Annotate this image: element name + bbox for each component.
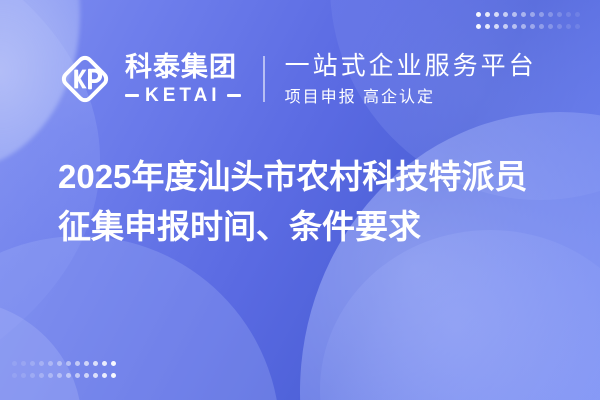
dot: [84, 373, 89, 378]
dot: [48, 361, 53, 366]
dot: [75, 361, 80, 366]
tagline-sub: 项目申报 高企认定: [285, 88, 537, 107]
dot: [30, 361, 35, 366]
dot: [57, 361, 62, 366]
dot: [530, 24, 535, 29]
dot: [503, 24, 508, 29]
dot: [548, 12, 553, 17]
dot-column: [512, 12, 517, 29]
dot: [566, 24, 571, 29]
rule-right-icon: [227, 94, 241, 97]
dot-column: [548, 12, 553, 29]
dot: [48, 373, 53, 378]
dot: [530, 12, 535, 17]
dot-column: [494, 12, 499, 29]
tagline-group: 一站式企业服务平台 项目申报 高企认定: [285, 51, 537, 107]
dot-column: [12, 361, 17, 378]
dot: [30, 373, 35, 378]
dot: [39, 361, 44, 366]
dot: [512, 12, 517, 17]
dot-column: [66, 361, 71, 378]
dot-column: [84, 361, 89, 378]
dot: [66, 373, 71, 378]
dot: [539, 12, 544, 17]
dot: [102, 361, 107, 366]
dot-grid-top-right: [476, 12, 584, 29]
tagline-main: 一站式企业服务平台: [285, 51, 537, 81]
brand-name-cn: 科泰集团: [125, 53, 241, 82]
dot: [557, 24, 562, 29]
kp-diamond-logo-icon: [55, 49, 115, 109]
promo-banner: 科泰集团 KETAI 一站式企业服务平台 项目申报 高企认定 2025年度汕头市…: [0, 0, 600, 400]
dot: [566, 12, 571, 17]
dot-column: [530, 12, 535, 29]
dot: [575, 24, 580, 29]
dot: [521, 24, 526, 29]
dot-column: [30, 361, 35, 378]
dot: [21, 361, 26, 366]
dot: [111, 361, 116, 366]
dot-column: [539, 12, 544, 29]
brand-wordmark: 科泰集团 KETAI: [125, 53, 241, 104]
dot-column: [48, 361, 53, 378]
header-divider: [263, 56, 265, 102]
dot: [21, 373, 26, 378]
dot: [521, 12, 526, 17]
dot: [57, 373, 62, 378]
dot-column: [476, 12, 481, 29]
dot-column: [75, 361, 80, 378]
dot: [485, 24, 490, 29]
curve-bottom-right-shape: [320, 230, 600, 400]
dot: [102, 373, 107, 378]
dot: [575, 12, 580, 17]
dot: [12, 373, 17, 378]
dot-column: [39, 361, 44, 378]
dot-column: [557, 12, 562, 29]
dot-column: [111, 361, 116, 378]
rule-left-icon: [125, 94, 139, 97]
dot: [66, 361, 71, 366]
brand-name-en: KETAI: [145, 86, 221, 105]
dot: [494, 24, 499, 29]
dot: [75, 373, 80, 378]
dot-column: [102, 361, 107, 378]
dot-grid-bottom-left: [12, 361, 120, 378]
dot: [548, 24, 553, 29]
dot: [93, 373, 98, 378]
dot: [512, 24, 517, 29]
dot-column: [575, 12, 580, 29]
dot-column: [566, 12, 571, 29]
dot: [111, 373, 116, 378]
dot-column: [57, 361, 62, 378]
dot: [84, 361, 89, 366]
dot: [476, 12, 481, 17]
brand-name-en-row: KETAI: [125, 86, 241, 105]
dot: [539, 24, 544, 29]
banner-header: 科泰集团 KETAI 一站式企业服务平台 项目申报 高企认定: [0, 40, 600, 118]
dot: [557, 12, 562, 17]
dot-column: [521, 12, 526, 29]
dot: [503, 12, 508, 17]
dot-column: [93, 361, 98, 378]
dot: [39, 373, 44, 378]
dot-column: [485, 12, 490, 29]
dot: [12, 361, 17, 366]
page-title: 2025年度汕头市农村科技特派员征集申报时间、条件要求: [58, 152, 558, 252]
dot-column: [503, 12, 508, 29]
dot: [476, 24, 481, 29]
dot: [485, 12, 490, 17]
circle-bottom-left-inner-shape: [0, 300, 82, 400]
dot: [494, 12, 499, 17]
dot: [93, 361, 98, 366]
dot-column: [21, 361, 26, 378]
